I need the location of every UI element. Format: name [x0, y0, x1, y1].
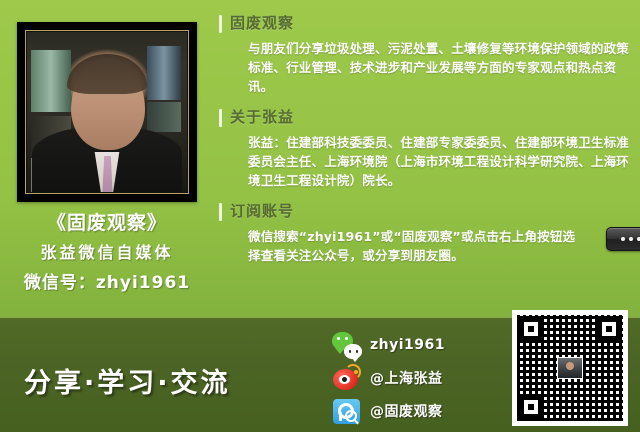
heading-accent-bar: [219, 203, 222, 221]
qr-finder-icon: [597, 317, 621, 341]
wechat-qr-code[interactable]: [512, 310, 628, 426]
portrait-photo: [27, 32, 187, 192]
section-heading: 关于张益: [218, 106, 634, 128]
wechat-icon: [332, 330, 362, 360]
portrait-hair: [67, 54, 147, 94]
qr-finder-icon: [519, 317, 543, 341]
section-about-zhang-yi: 关于张益 张益：住建部科技委委员、住建部专家委委员、住建部环境卫生标准委员会主任…: [218, 106, 634, 190]
social-row-search[interactable]: @固废观察: [332, 394, 497, 427]
caption-line-title: 《固废观察》: [0, 208, 214, 238]
heading-accent-bar: [219, 15, 222, 33]
left-caption: 《固废观察》 张益微信自媒体 微信号：zhyi1961: [0, 208, 214, 298]
dot-icon: [621, 237, 625, 241]
social-label-search: @固废观察: [370, 401, 443, 421]
weibo-icon: [332, 363, 362, 393]
more-options-button[interactable]: [606, 227, 640, 251]
top-green-region: 《固废观察》 张益微信自媒体 微信号：zhyi1961 固废观察 与朋友们分享垃…: [0, 0, 640, 317]
caption-line-wechat-id: 微信号：zhyi1961: [0, 268, 214, 298]
section-body-text: 张益：住建部科技委委员、住建部专家委委员、住建部环境卫生标准委员会主任、上海环境…: [218, 133, 634, 190]
bookshelf-decor: [147, 102, 181, 132]
section-heading-text: 订阅账号: [230, 202, 294, 220]
search-icon: [332, 396, 362, 426]
portrait-frame: [17, 22, 197, 202]
section-body-text: 微信搜索“zhyi1961”或“固废观察”或点击右上角按钮选择查看关注公众号，或…: [248, 229, 575, 263]
promo-card: 《固废观察》 张益微信自媒体 微信号：zhyi1961 固废观察 与朋友们分享垃…: [0, 0, 640, 432]
qr-finder-icon: [519, 395, 543, 419]
section-solid-waste-observation: 固废观察 与朋友们分享垃圾处理、污泥处置、土壤修复等环境保护领域的政策标准、行业…: [218, 12, 634, 96]
section-body-wrapper: 微信搜索“zhyi1961”或“固废观察”或点击右上角按钮选择查看关注公众号，或…: [218, 227, 634, 265]
section-heading-text: 固废观察: [230, 14, 294, 32]
dot-icon: [629, 237, 633, 241]
qr-center-avatar: [557, 357, 583, 379]
info-sections: 固废观察 与朋友们分享垃圾处理、污泥处置、土壤修复等环境保护领域的政策标准、行业…: [218, 12, 634, 275]
social-row-wechat[interactable]: zhyi1961: [332, 328, 497, 361]
social-links: zhyi1961 @上海张益 @固废观察: [332, 328, 497, 427]
social-row-weibo[interactable]: @上海张益: [332, 361, 497, 394]
section-body-text: 与朋友们分享垃圾处理、污泥处置、土壤修复等环境保护领域的政策标准、行业管理、技术…: [218, 39, 634, 96]
social-label-weibo: @上海张益: [370, 368, 443, 388]
section-heading: 订阅账号: [218, 200, 634, 222]
portrait-inner-border: [25, 30, 189, 194]
slogan-text: 分享·学习·交流: [24, 361, 231, 400]
qr-code-pattern: [517, 315, 623, 421]
section-heading: 固废观察: [218, 12, 634, 34]
heading-accent-bar: [219, 109, 222, 127]
social-label-wechat: zhyi1961: [370, 337, 445, 353]
caption-line-subtitle: 张益微信自媒体: [0, 238, 214, 268]
bookshelf-decor: [147, 46, 181, 100]
section-subscribe-account: 订阅账号 微信搜索“zhyi1961”或“固废观察”或点击右上角按钮选择查看关注…: [218, 200, 634, 265]
section-heading-text: 关于张益: [230, 108, 294, 126]
bookshelf-decor: [31, 50, 71, 112]
